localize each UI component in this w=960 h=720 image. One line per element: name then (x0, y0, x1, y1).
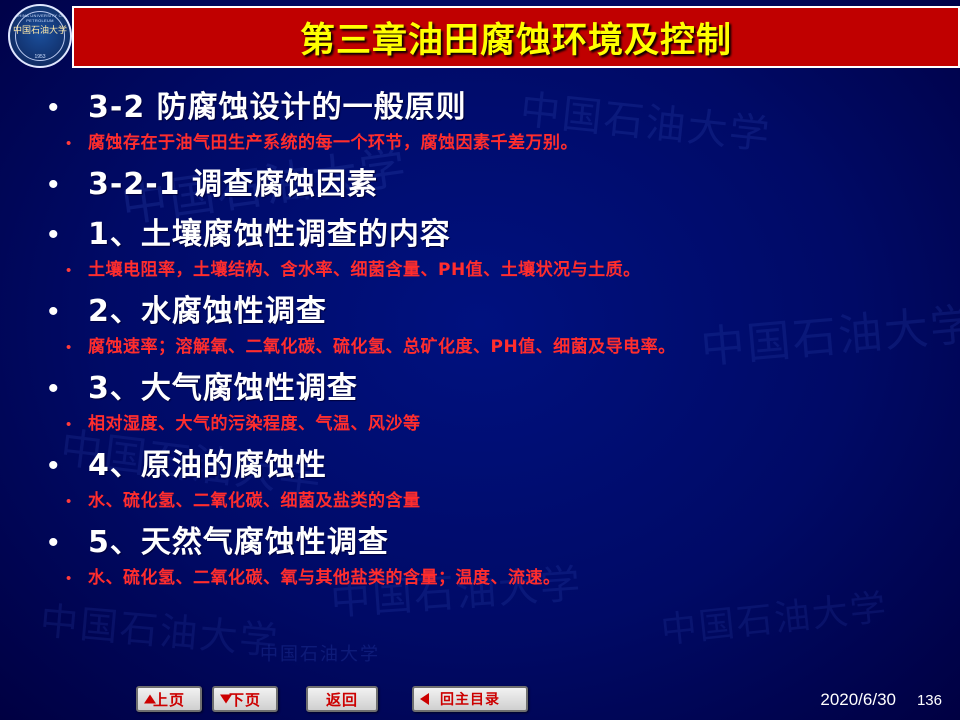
bullet-line: • 5、天然气腐蚀性调查 (48, 517, 928, 561)
bullet-text: 3、大气腐蚀性调查 (88, 363, 358, 407)
bullet-text: 水、硫化氢、二氧化碳、细菌及盐类的含量 (88, 486, 421, 511)
bullet-line: • 水、硫化氢、二氧化碳、细菌及盐类的含量 (48, 486, 928, 511)
home-menu-button[interactable]: 回主目录 (412, 686, 528, 712)
footer-date: 2020/6/30 (820, 690, 896, 710)
bullet-text: 1、土壤腐蚀性调查的内容 (88, 209, 451, 253)
bullet-line: • 4、原油的腐蚀性 (48, 440, 928, 484)
bullet-line: • 水、硫化氢、二氧化碳、氧与其他盐类的含量；温度、流速。 (48, 563, 928, 588)
bullet-text: 相对湿度、大气的污染程度、气温、风沙等 (88, 409, 421, 434)
home-menu-label: 回主目录 (440, 689, 500, 709)
bullet-marker: • (66, 135, 88, 152)
prev-page-button[interactable]: 上页 (136, 686, 202, 712)
footer-page-number: 136 (917, 692, 942, 709)
bullet-text: 3-2 防腐蚀设计的一般原则 (88, 82, 467, 126)
bullet-text: 2、水腐蚀性调查 (88, 286, 327, 330)
university-logo: CHINA UNIVERSITY OF PETROLEUM 中国石油大学 195… (8, 4, 72, 68)
bullet-text: 腐蚀存在于油气田生产系统的每一个环节，腐蚀因素千差万别。 (88, 128, 578, 153)
bullet-marker: • (66, 493, 88, 510)
next-page-button[interactable]: 下页 (212, 686, 278, 712)
bullet-text: 4、原油的腐蚀性 (88, 440, 327, 484)
page-title: 第三章油田腐蚀环境及控制 (72, 12, 960, 63)
back-button[interactable]: 返回 (306, 686, 378, 712)
bullet-marker: • (66, 339, 88, 356)
bullet-marker: • (66, 416, 88, 433)
bullet-line: • 3-2 防腐蚀设计的一般原则 (48, 82, 928, 126)
back-label: 返回 (326, 689, 358, 710)
slide-content: • 3-2 防腐蚀设计的一般原则 • 腐蚀存在于油气田生产系统的每一个环节，腐蚀… (48, 76, 928, 590)
bullet-marker: • (48, 526, 88, 560)
prev-page-label: 上页 (153, 689, 185, 710)
bullet-line: • 相对湿度、大气的污染程度、气温、风沙等 (48, 409, 928, 434)
next-page-label: 下页 (229, 689, 261, 710)
bullet-marker: • (48, 295, 88, 329)
bullet-line: • 3-2-1 调查腐蚀因素 (48, 159, 928, 203)
slide: 中国石油大学 中国石油大学 中国石油大学 中国石油大学 中国石油大学 中国石油大… (0, 0, 960, 720)
arrow-left-icon (420, 693, 429, 705)
watermark: 中国石油大学 (38, 590, 282, 666)
logo-chinese-text: 中国石油大学 (10, 26, 70, 36)
bullet-line: • 2、水腐蚀性调查 (48, 286, 928, 330)
bullet-line: • 腐蚀存在于油气田生产系统的每一个环节，腐蚀因素千差万别。 (48, 128, 928, 153)
bullet-text: 水、硫化氢、二氧化碳、氧与其他盐类的含量；温度、流速。 (88, 563, 561, 588)
bullet-line: • 腐蚀速率；溶解氧、二氧化碳、硫化氢、总矿化度、PH值、细菌及导电率。 (48, 332, 928, 357)
bullet-marker: • (48, 91, 88, 125)
bullet-marker: • (66, 570, 88, 587)
bullet-marker: • (48, 449, 88, 483)
bullet-text: 3-2-1 调查腐蚀因素 (88, 159, 378, 203)
bullet-marker: • (48, 218, 88, 252)
watermark: 中国石油大学 (260, 640, 380, 666)
logo-year: 1953 (10, 54, 70, 60)
bullet-marker: • (66, 262, 88, 279)
bullet-text: 腐蚀速率；溶解氧、二氧化碳、硫化氢、总矿化度、PH值、细菌及导电率。 (88, 332, 676, 357)
arrow-down-icon (220, 695, 232, 704)
bullet-line: • 1、土壤腐蚀性调查的内容 (48, 209, 928, 253)
arrow-up-icon (144, 695, 156, 704)
bullet-marker: • (48, 372, 88, 406)
bullet-text: 土壤电阻率，土壤结构、含水率、细菌含量、PH值、土壤状况与土质。 (88, 255, 641, 280)
bullet-line: • 土壤电阻率，土壤结构、含水率、细菌含量、PH值、土壤状况与土质。 (48, 255, 928, 280)
bullet-marker: • (48, 168, 88, 202)
bullet-text: 5、天然气腐蚀性调查 (88, 517, 389, 561)
bullet-line: • 3、大气腐蚀性调查 (48, 363, 928, 407)
logo-english-text: CHINA UNIVERSITY OF PETROLEUM (10, 13, 70, 23)
